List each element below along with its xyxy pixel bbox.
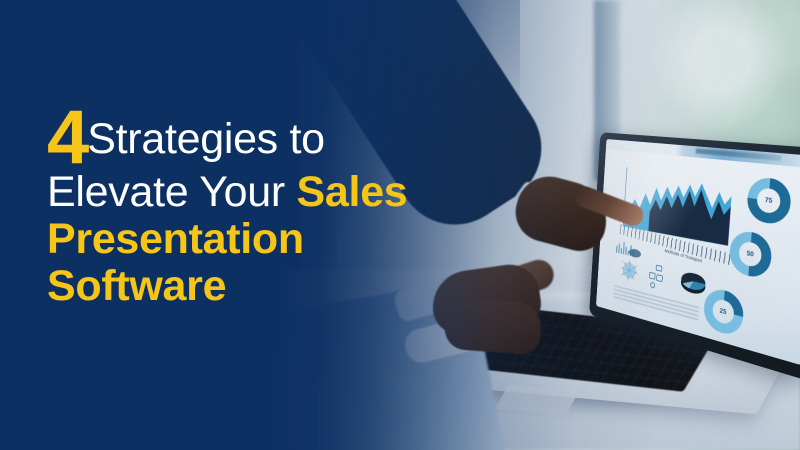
headline-line-2: Elevate Your Sales	[47, 171, 477, 214]
headline-line-3: Presentation	[47, 218, 477, 261]
headline-line-2-text: Elevate Your	[47, 168, 285, 216]
blog-banner: Methods of Transport	[0, 0, 800, 450]
headline: 4Strategies to Elevate Your Sales Presen…	[47, 108, 477, 308]
headline-keyword-software: Software	[47, 262, 226, 310]
headline-number: 4	[47, 108, 87, 169]
headline-line-1: 4Strategies to	[47, 108, 477, 169]
headline-line-4: Software	[47, 265, 477, 308]
headline-line-1-text: Strategies to	[87, 115, 325, 163]
headline-keyword-presentation: Presentation	[47, 215, 304, 263]
headline-keyword-sales: Sales	[297, 168, 408, 216]
